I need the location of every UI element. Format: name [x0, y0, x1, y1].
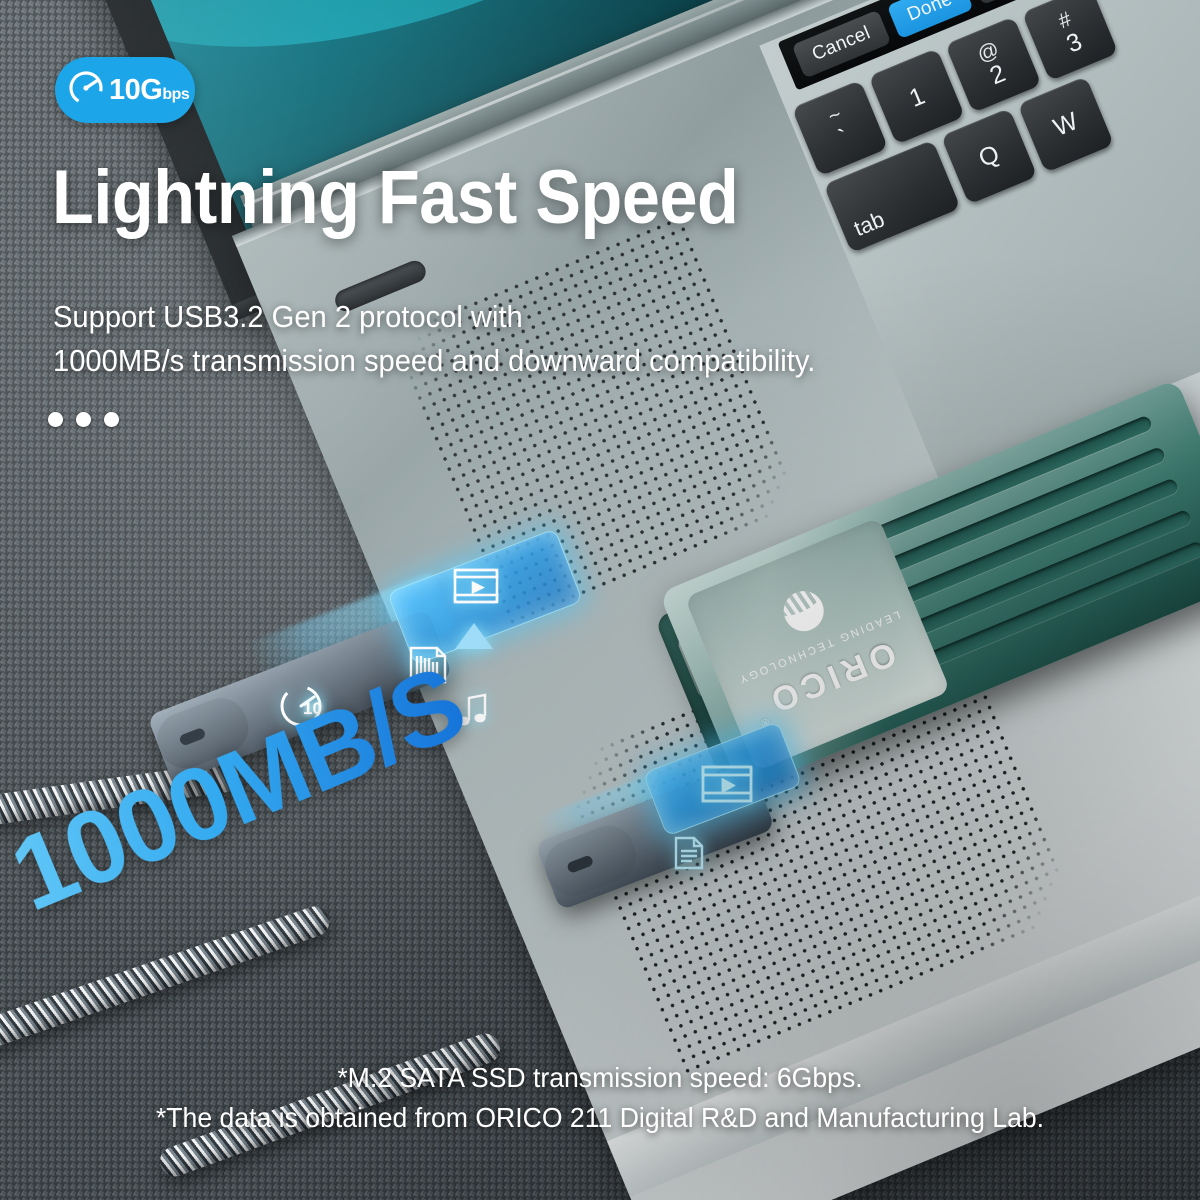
ellipsis-indicator — [48, 412, 119, 427]
subtitle-block: Support USB3.2 Gen 2 protocol with 1000M… — [53, 295, 815, 383]
speed-badge-unit: bps — [162, 87, 189, 103]
product-marketing-banner: Cancel Done  Apple ♦ ~ ` 1 — [0, 0, 1200, 1200]
footnote-line-1: *M.2 SATA SSD transmission speed: 6Gbps. — [30, 1058, 1170, 1098]
dot-1 — [48, 412, 63, 427]
speed-badge-text: 10Gbps — [109, 76, 189, 105]
speed-badge-value: 10G — [109, 76, 162, 105]
subtitle-line-2: 1000MB/s transmission speed and downward… — [53, 339, 815, 383]
footnote-line-2: *The data is obtained from ORICO 211 Dig… — [30, 1098, 1170, 1138]
dot-3 — [104, 412, 119, 427]
speed-badge: 10Gbps — [55, 57, 195, 123]
dot-2 — [76, 412, 91, 427]
page-title: Lightning Fast Speed — [52, 160, 738, 236]
footnotes: *M.2 SATA SSD transmission speed: 6Gbps.… — [30, 1058, 1170, 1138]
speedometer-icon — [65, 67, 107, 114]
subtitle-line-1: Support USB3.2 Gen 2 protocol with — [53, 295, 815, 339]
